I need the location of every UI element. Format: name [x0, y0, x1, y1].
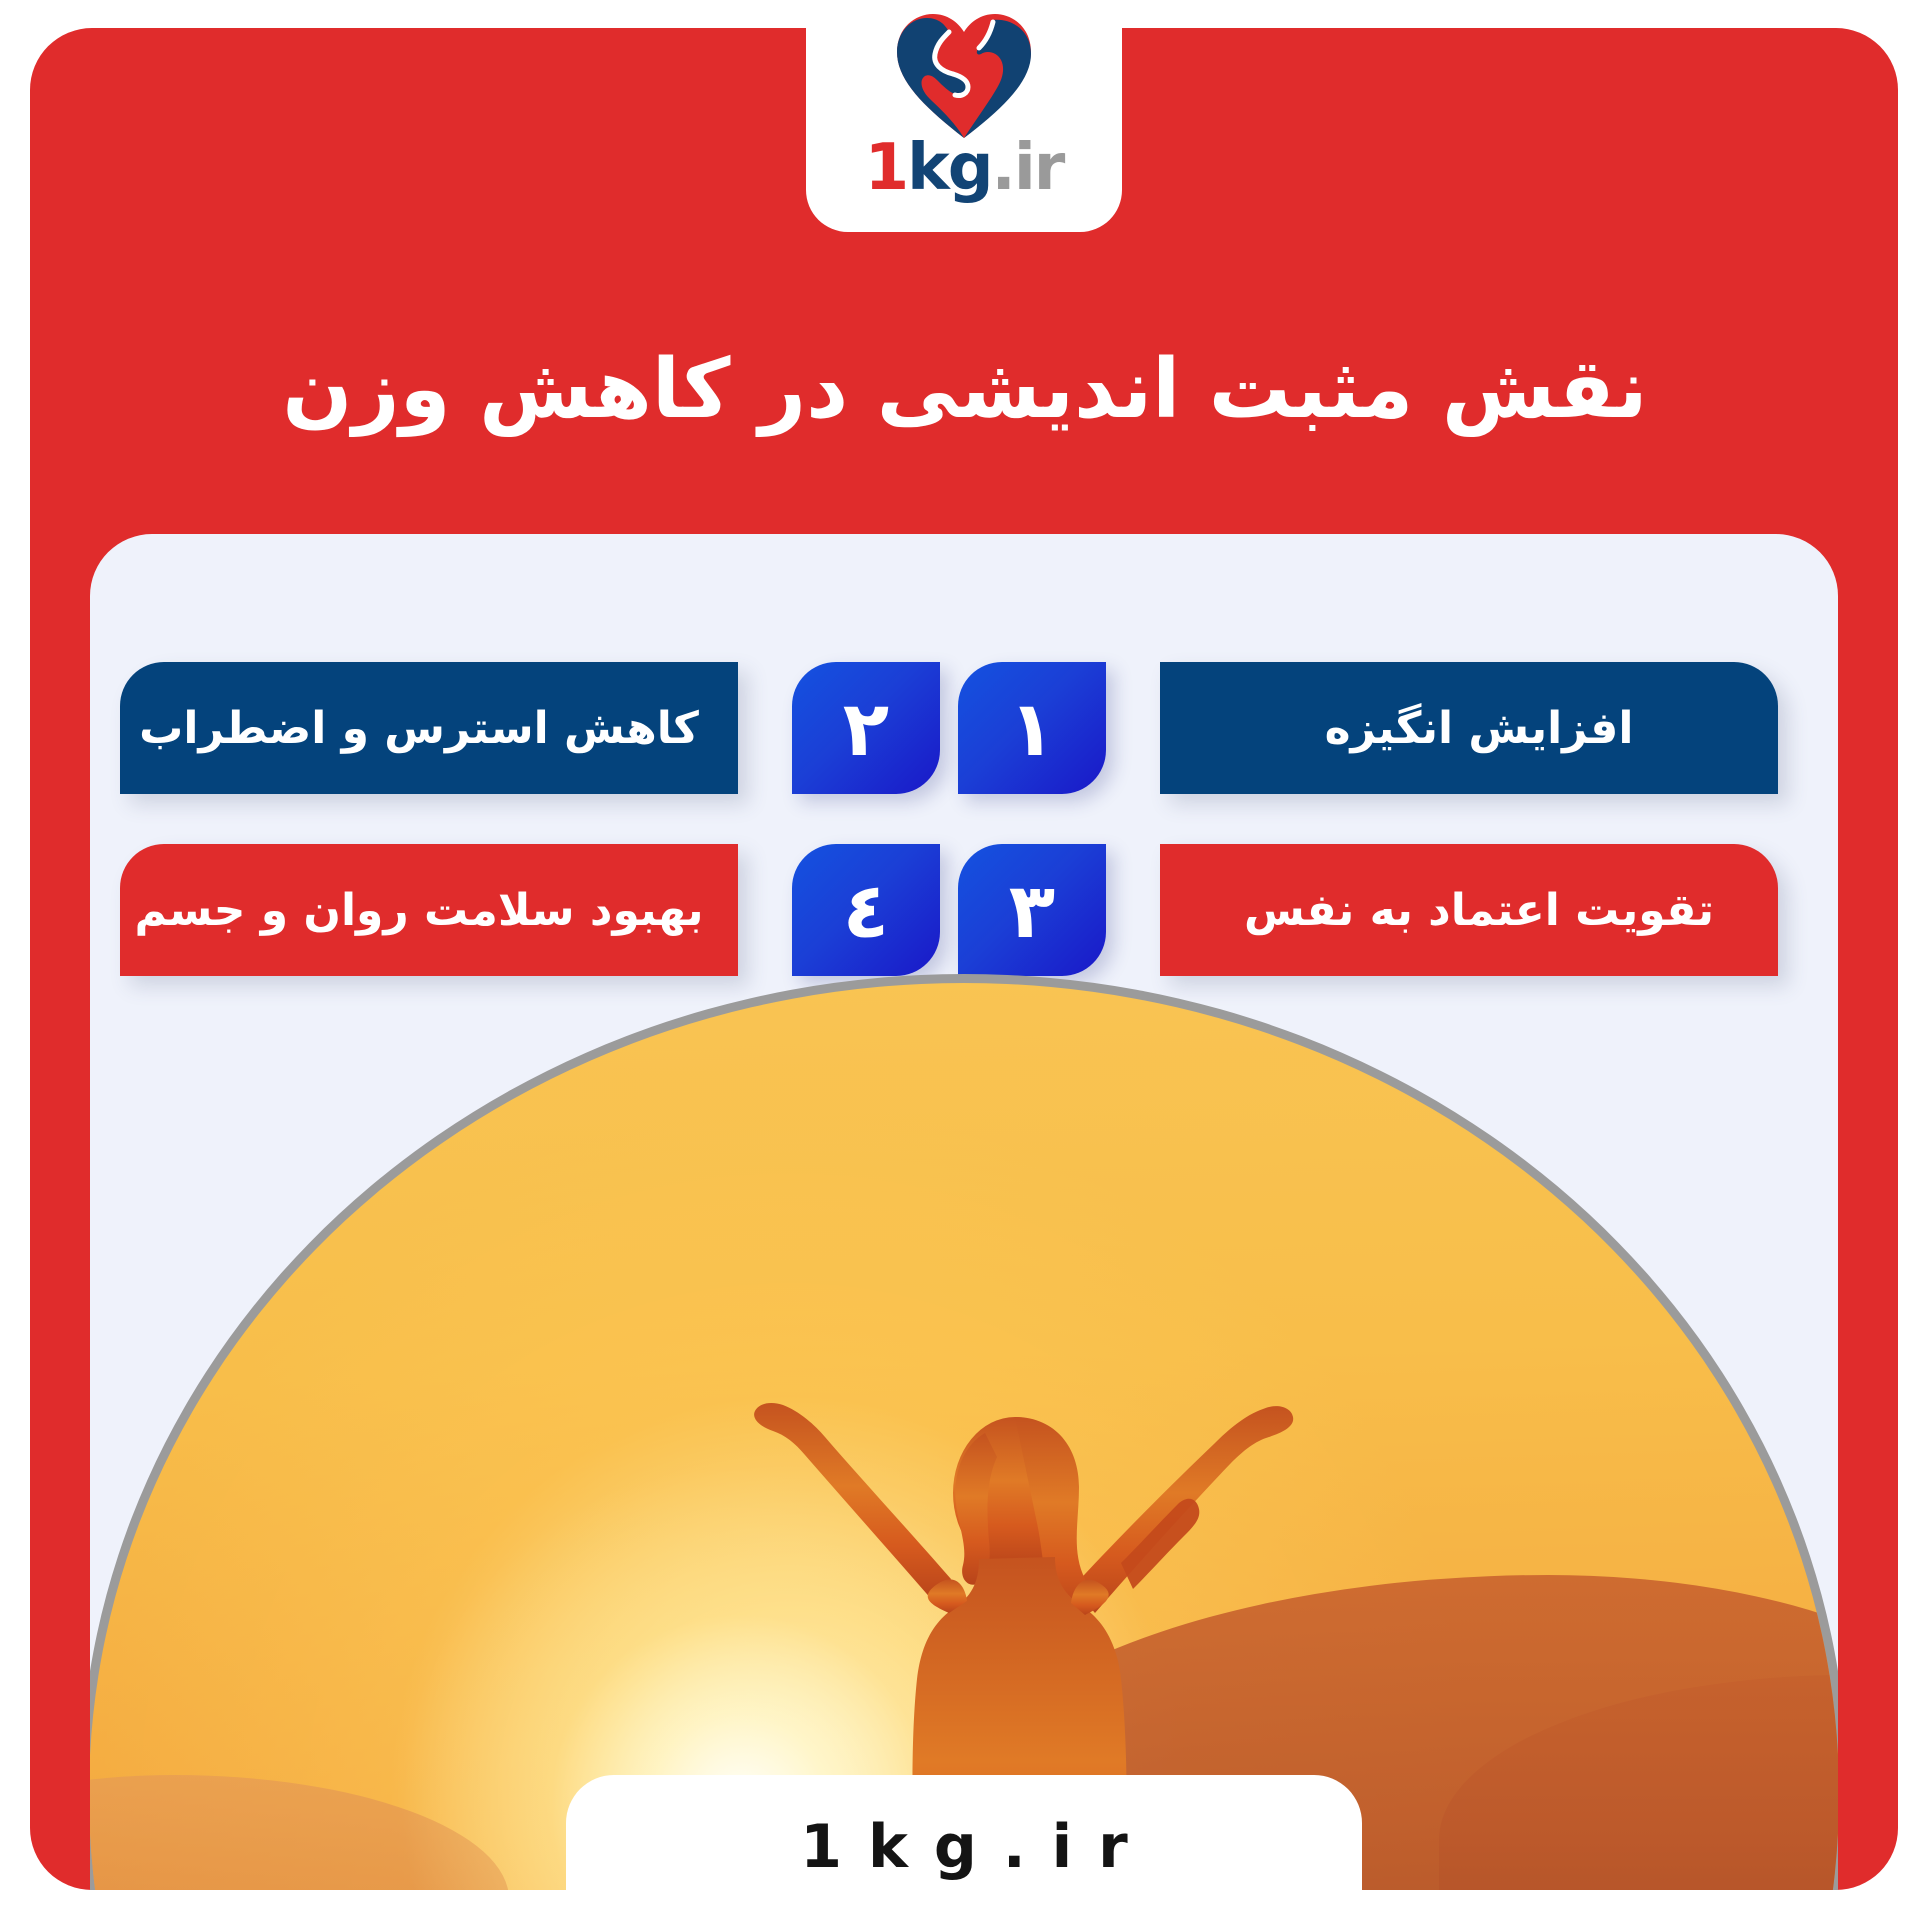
benefit-number-1: ١ — [958, 662, 1106, 794]
benefit-number-3: ٣ — [958, 844, 1106, 976]
benefit-card-2-label: کاهش استرس و اضطراب — [139, 703, 699, 754]
wordmark-1: 1 — [865, 131, 908, 205]
benefit-card-3-label: تقویت اعتماد به نفس — [1244, 885, 1714, 936]
benefit-card-1-label: افزایش انگیزه — [1325, 703, 1634, 754]
benefit-card-4-label: بهبود سلامت روان و جسم — [134, 885, 703, 936]
sunset-photo-wrapper — [90, 974, 1838, 1890]
content-panel: کاهش استرس و اضطراب ٢ ١ افزایش انگیزه به… — [90, 534, 1838, 1890]
brand-wordmark: 1kg.ir — [865, 136, 1064, 200]
benefit-row-1: کاهش استرس و اضطراب ٢ ١ افزایش انگیزه — [90, 654, 1838, 802]
benefit-number-2: ٢ — [792, 662, 940, 794]
benefit-row-2: بهبود سلامت روان و جسم ٤ ٣ تقویت اعتماد … — [90, 836, 1838, 984]
sunset-silhouette-photo — [90, 974, 1838, 1890]
benefits-card-grid: کاهش استرس و اضطراب ٢ ١ افزایش انگیزه به… — [90, 654, 1838, 984]
page-title: نقش مثبت اندیشی در کاهش وزن — [160, 338, 1770, 443]
footer-website[interactable]: 1kg.ir — [774, 1812, 1154, 1882]
wordmark-ir: .ir — [992, 131, 1064, 205]
footer-bar: 1kg.ir — [566, 1775, 1362, 1919]
benefit-card-4[interactable]: بهبود سلامت روان و جسم — [120, 844, 738, 976]
benefit-card-1[interactable]: افزایش انگیزه — [1160, 662, 1778, 794]
brand-logo-badge: 1kg.ir — [806, 0, 1122, 232]
badge-pair-row-2: ٤ ٣ — [738, 844, 1160, 976]
infographic-poster: 1kg.ir نقش مثبت اندیشی در کاهش وزن کاهش … — [0, 0, 1928, 1919]
benefit-card-3[interactable]: تقویت اعتماد به نفس — [1160, 844, 1778, 976]
benefit-number-4: ٤ — [792, 844, 940, 976]
heart-bicep-icon — [893, 10, 1035, 142]
benefit-card-2[interactable]: کاهش استرس و اضطراب — [120, 662, 738, 794]
wordmark-kg: kg — [907, 131, 991, 205]
badge-pair-row-1: ٢ ١ — [738, 662, 1160, 794]
